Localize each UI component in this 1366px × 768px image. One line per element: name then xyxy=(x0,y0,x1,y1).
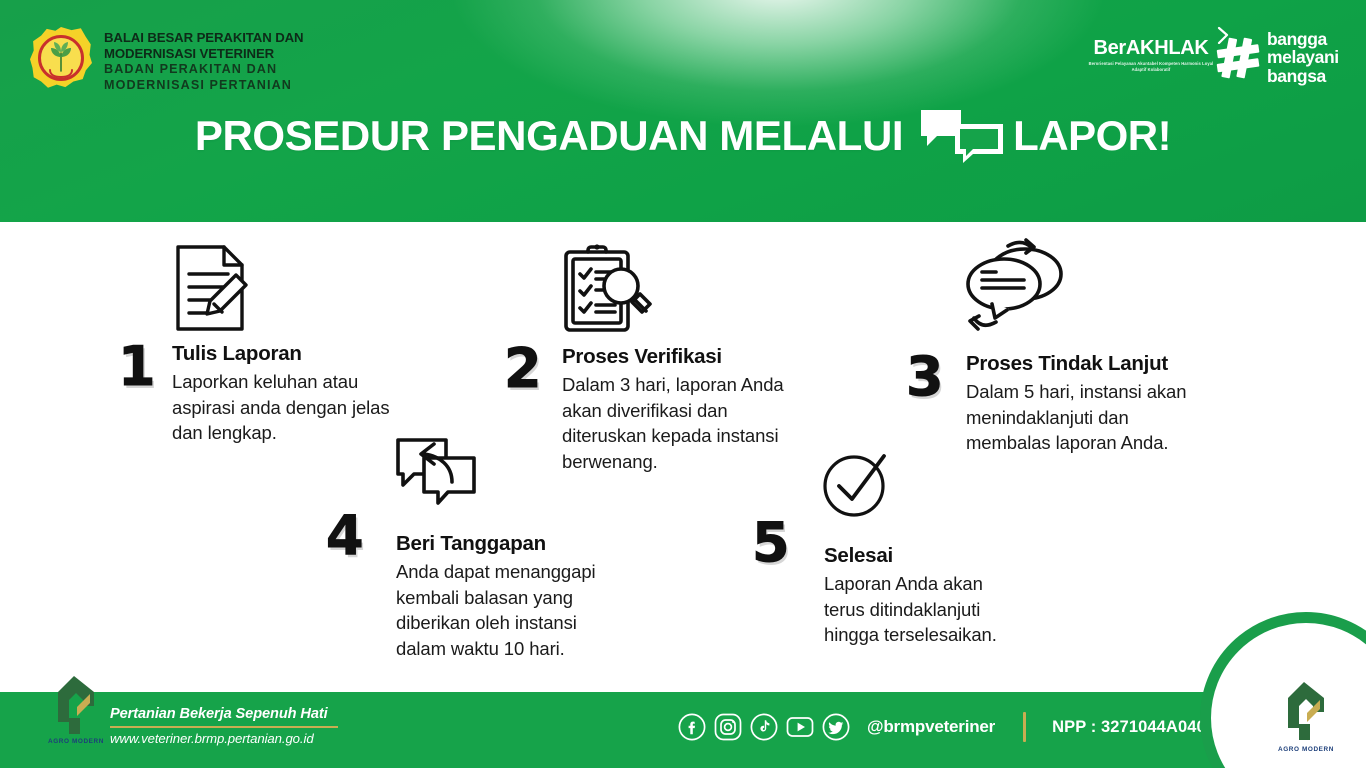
seal-plant-icon xyxy=(42,37,80,79)
berakhlak-logo: BerAKHLAK Berorientasi Pelayanan Akuntab… xyxy=(1086,38,1216,73)
step-number-2: 2 xyxy=(504,342,542,396)
steps-section: 1 Tulis Laporan Laporkan keluhan atau as… xyxy=(0,222,1366,692)
page-title: PROSEDUR PENGADUAN MELALUI xyxy=(195,112,903,160)
agro-modern-caption: AGRO MODERN xyxy=(44,738,108,745)
check-circle-icon xyxy=(820,448,892,520)
instagram-icon[interactable] xyxy=(714,713,742,741)
lapor-speech-bubbles-icon xyxy=(919,108,1005,164)
step-title-3: Proses Tindak Lanjut xyxy=(966,352,1296,376)
social-media-row: @brmpveteriner NPP : 3271044A0400001 xyxy=(678,712,1243,742)
step-title-1: Tulis Laporan xyxy=(172,342,482,366)
header-banner: BALAI BESAR PERAKITAN DAN MODERNISASI VE… xyxy=(0,0,1366,222)
ministry-of-agriculture-seal-icon xyxy=(30,27,92,89)
step-number-3: 3 xyxy=(906,350,944,404)
social-handle: @brmpveteriner xyxy=(867,717,995,737)
footer-tagline: Pertanian Bekerja Sepenuh Hati xyxy=(110,706,346,722)
facebook-icon[interactable] xyxy=(678,713,706,741)
corner-agro-caption: AGRO MODERN xyxy=(1271,746,1341,753)
step-title-4: Beri Tanggapan xyxy=(396,532,696,556)
bangga-wordmark: bangga melayani bangsa xyxy=(1267,30,1339,85)
org-line-2: MODERNISASI VETERINER xyxy=(104,46,404,62)
hashtag-icon xyxy=(1216,35,1260,81)
step-text-3: Proses Tindak Lanjut Dalam 5 hari, insta… xyxy=(966,352,1296,456)
footer-tagline-block: Pertanian Bekerja Sepenuh Hati www.veter… xyxy=(110,706,346,746)
document-with-pencil-icon xyxy=(170,242,252,334)
step-number-4: 4 xyxy=(326,509,364,563)
org-line-3: BADAN PERAKITAN DAN xyxy=(104,62,404,77)
agro-modern-logo: AGRO MODERN xyxy=(44,674,108,748)
step-description-1: Laporkan keluhan atau aspirasi anda deng… xyxy=(172,369,482,446)
step-number-5: 5 xyxy=(752,516,790,570)
footer-website-url[interactable]: www.veteriner.brmp.pertanian.go.id xyxy=(110,731,346,746)
step-title-2: Proses Verifikasi xyxy=(562,345,862,369)
step-text-2: Proses Verifikasi Dalam 3 hari, laporan … xyxy=(562,345,862,474)
bangga-line-2: melayani xyxy=(1267,48,1339,66)
org-line-4: MODERNISASI PERTANIAN xyxy=(104,78,404,93)
bangga-line-3: bangsa xyxy=(1267,67,1339,85)
step-number-1: 1 xyxy=(118,340,156,394)
berakhlak-wordmark: BerAKHLAK xyxy=(1086,38,1216,58)
step-description-3: Dalam 5 hari, instansi akan menindaklanj… xyxy=(966,379,1296,456)
npp-divider xyxy=(1023,712,1026,742)
youtube-icon[interactable] xyxy=(786,713,814,741)
corner-agro-modern-mark-icon xyxy=(1271,680,1341,742)
step-text-1: Tulis Laporan Laporkan keluhan atau aspi… xyxy=(172,342,482,446)
twitter-icon[interactable] xyxy=(822,713,850,741)
title-row: PROSEDUR PENGADUAN MELALUI xyxy=(0,108,1366,164)
agro-modern-mark-icon xyxy=(44,674,108,736)
footer-divider-rule xyxy=(110,726,338,728)
tiktok-icon[interactable] xyxy=(750,713,778,741)
step-text-4: Beri Tanggapan Anda dapat menanggapi kem… xyxy=(396,532,696,661)
berakhlak-subtitle: Berorientasi Pelayanan Akuntabel Kompete… xyxy=(1086,61,1216,73)
speech-bubble-reply-arrow-icon xyxy=(394,436,478,516)
bangga-melayani-bangsa-logo: bangga melayani bangsa xyxy=(1216,30,1339,85)
step-description-5: Laporan Anda akan terus ditindaklanjuti … xyxy=(824,571,1104,648)
step-text-5: Selesai Laporan Anda akan terus ditindak… xyxy=(824,544,1104,648)
corner-agro-mark: AGRO MODERN xyxy=(1271,680,1341,756)
infographic-page: BALAI BESAR PERAKITAN DAN MODERNISASI VE… xyxy=(0,0,1366,768)
step-title-5: Selesai xyxy=(824,544,1104,568)
bangga-line-1: bangga xyxy=(1267,30,1339,48)
organization-name: BALAI BESAR PERAKITAN DAN MODERNISASI VE… xyxy=(104,30,404,93)
lapor-wordmark: LAPOR! xyxy=(1013,112,1171,160)
step-description-2: Dalam 3 hari, laporan Anda akan diverifi… xyxy=(562,372,862,474)
step-description-4: Anda dapat menanggapi kembali balasan ya… xyxy=(396,559,696,661)
lapor-logo: LAPOR! xyxy=(919,108,1171,164)
org-line-1: BALAI BESAR PERAKITAN DAN xyxy=(104,30,404,46)
two-speech-bubbles-arrows-icon xyxy=(960,234,1080,338)
clipboard-checklist-magnifier-icon xyxy=(558,240,654,338)
